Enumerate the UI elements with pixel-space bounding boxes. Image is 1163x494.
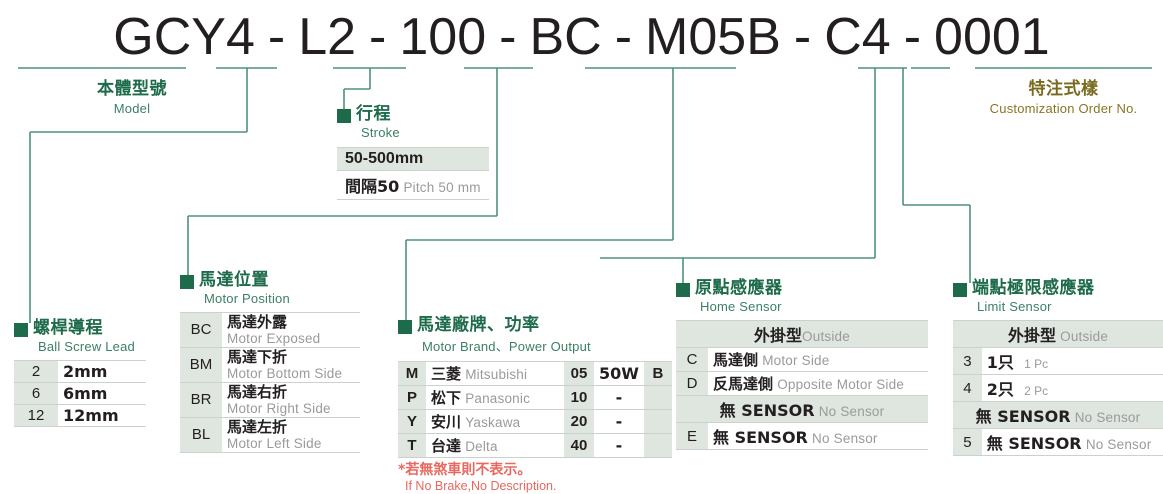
table-row: 5 無 SENSOR No Sensor xyxy=(953,429,1163,456)
model-separator: - xyxy=(356,11,399,63)
group-motor-position: 馬達位置 Motor Position BC 馬達外露 Motor Expose… xyxy=(180,272,360,453)
model-segment-lead: L2 xyxy=(298,11,356,63)
group-customization-title-en: Customization Order No. xyxy=(975,101,1152,116)
power-value: - xyxy=(594,386,644,410)
home-sensor-value: 反馬達側 Opposite Motor Side xyxy=(708,372,928,396)
power-value: - xyxy=(594,410,644,434)
group-motor-brand-power: 馬達廠牌、功率 Motor Brand、Power Output M 三菱 Mi… xyxy=(398,317,672,494)
group-home-sensor-title-en: Home Sensor xyxy=(700,299,928,314)
table-row: M 三菱 Mitsubishi 05 50W B xyxy=(398,362,672,386)
table-row: 外掛型Outside xyxy=(676,321,928,348)
table-row: 4 2只 2 Pc xyxy=(953,375,1163,402)
limit-sensor-value: 2只 2 Pc xyxy=(982,375,1163,402)
brand-name: 松下 Panasonic xyxy=(426,386,564,410)
table-row: C 馬達側 Motor Side xyxy=(676,348,928,372)
lead-code: 12 xyxy=(14,405,58,427)
power-value: - xyxy=(594,434,644,458)
model-number-row: GCY4 - L2 - 100 - BC - M05B - C4 - 0001 xyxy=(0,6,1163,68)
table-row: BR 馬達右折 Motor Right Side xyxy=(180,382,360,417)
lead-value: 2mm xyxy=(58,361,146,383)
group-limit-sensor-heading: 端點極限感應器 xyxy=(953,280,1163,297)
limit-sensor-code: 4 xyxy=(953,375,982,402)
group-stroke-title-zh: 行程 xyxy=(356,106,391,123)
table-row: T 台達 Delta 40 - xyxy=(398,434,672,458)
table-row: BL 馬達左折 Motor Left Side xyxy=(180,417,360,452)
limit-sensor-section-header: 無 SENSOR No Sensor xyxy=(953,402,1163,429)
brand-name: 安川 Yaskawa xyxy=(426,410,564,434)
stroke-pitch: 間隔50 Pitch 50 mm xyxy=(337,171,489,200)
table-row: E 無 SENSOR No Sensor xyxy=(676,423,928,450)
stroke-pitch-zh: 間隔50 xyxy=(345,177,399,196)
brand-code: T xyxy=(398,434,426,458)
table-row: 無 SENSOR No Sensor xyxy=(953,402,1163,429)
group-limit-sensor: 端點極限感應器 Limit Sensor 外掛型 Outside 3 1只 1 … xyxy=(953,280,1163,456)
limit-sensor-value: 無 SENSOR No Sensor xyxy=(982,429,1163,456)
group-ball-screw-lead: 螺桿導程 Ball Screw Lead 2 2mm 6 6mm 12 12mm xyxy=(14,320,146,427)
limit-sensor-code: 5 xyxy=(953,429,982,456)
brake-note-zh: *若無煞車則不表示。 xyxy=(398,462,672,479)
group-model-title-en: Model xyxy=(52,101,212,116)
model-separator: - xyxy=(602,11,645,63)
motor-position-code: BR xyxy=(180,382,222,417)
model-separator: - xyxy=(781,11,824,63)
motor-position-value: 馬達下折 Motor Bottom Side xyxy=(222,347,360,382)
motor-position-value: 馬達左折 Motor Left Side xyxy=(222,417,360,452)
power-code: 10 xyxy=(564,386,594,410)
group-customization-title-zh: 特注式樣 xyxy=(975,74,1152,99)
motor-position-code: BC xyxy=(180,313,222,348)
table-row: 2 2mm xyxy=(14,361,146,383)
lead-value: 12mm xyxy=(58,405,146,427)
table-row: P 松下 Panasonic 10 - xyxy=(398,386,672,410)
brand-code: M xyxy=(398,362,426,386)
ball-screw-lead-table: 2 2mm 6 6mm 12 12mm xyxy=(14,360,146,427)
table-row: Y 安川 Yaskawa 20 - xyxy=(398,410,672,434)
brake-code: B xyxy=(644,362,672,386)
group-motor-position-heading: 馬達位置 xyxy=(180,272,360,289)
home-sensor-table: 外掛型Outside C 馬達側 Motor Side D 反馬達側 Oppos… xyxy=(676,320,928,450)
stroke-range: 50-500mm xyxy=(337,148,489,171)
group-stroke: 行程 Stroke 50-500mm 間隔50 Pitch 50 mm xyxy=(337,106,489,200)
motor-position-code: BM xyxy=(180,347,222,382)
table-row: 無 SENSOR No Sensor xyxy=(676,396,928,423)
brand-code: P xyxy=(398,386,426,410)
stroke-table: 50-500mm 間隔50 Pitch 50 mm xyxy=(337,147,489,200)
group-ball-screw-lead-title-zh: 螺桿導程 xyxy=(33,320,103,337)
group-limit-sensor-title-zh: 端點極限感應器 xyxy=(972,280,1095,297)
table-row: BC 馬達外露 Motor Exposed xyxy=(180,313,360,348)
table-row: D 反馬達側 Opposite Motor Side xyxy=(676,372,928,396)
motor-brand-table: M 三菱 Mitsubishi 05 50W B P 松下 Panasonic … xyxy=(398,361,672,458)
group-model: 本體型號 Model xyxy=(52,74,212,116)
stroke-pitch-en: Pitch 50 mm xyxy=(403,180,480,195)
group-ball-screw-lead-title-en: Ball Screw Lead xyxy=(38,339,146,354)
group-motor-brand-heading: 馬達廠牌、功率 xyxy=(398,317,672,334)
table-row: 6 6mm xyxy=(14,383,146,405)
model-separator: - xyxy=(891,11,934,63)
limit-sensor-code: 3 xyxy=(953,348,982,375)
lead-code: 6 xyxy=(14,383,58,405)
group-motor-brand-title-en: Motor Brand、Power Output xyxy=(422,336,672,355)
power-value: 50W xyxy=(594,362,644,386)
model-segment-sensor: C4 xyxy=(824,11,890,63)
square-marker-icon xyxy=(337,109,351,123)
home-sensor-section-header: 無 SENSOR No Sensor xyxy=(676,396,928,423)
brand-name: 台達 Delta xyxy=(426,434,564,458)
motor-position-value: 馬達右折 Motor Right Side xyxy=(222,382,360,417)
square-marker-icon xyxy=(180,275,194,289)
home-sensor-section-header: 外掛型Outside xyxy=(676,321,928,348)
brake-code xyxy=(644,410,672,434)
lead-code: 2 xyxy=(14,361,58,383)
brake-code xyxy=(644,434,672,458)
square-marker-icon xyxy=(953,283,967,297)
group-ball-screw-lead-heading: 螺桿導程 xyxy=(14,320,146,337)
power-code: 05 xyxy=(564,362,594,386)
group-home-sensor: 原點感應器 Home Sensor 外掛型Outside C 馬達側 Motor… xyxy=(676,280,928,450)
square-marker-icon xyxy=(676,283,690,297)
group-motor-position-title-en: Motor Position xyxy=(204,291,360,306)
group-home-sensor-title-zh: 原點感應器 xyxy=(695,280,783,297)
brake-note: *若無煞車則不表示。 If No Brake,No Description. xyxy=(398,462,672,494)
group-motor-brand-title-zh: 馬達廠牌、功率 xyxy=(417,317,540,334)
group-home-sensor-heading: 原點感應器 xyxy=(676,280,928,297)
limit-sensor-table: 外掛型 Outside 3 1只 1 Pc 4 2只 2 Pc xyxy=(953,320,1163,456)
model-separator: - xyxy=(486,11,529,63)
table-row: 3 1只 1 Pc xyxy=(953,348,1163,375)
brake-note-en: If No Brake,No Description. xyxy=(405,479,672,494)
home-sensor-code: C xyxy=(676,348,708,372)
home-sensor-code: E xyxy=(676,423,708,450)
model-segment-stroke: 100 xyxy=(399,11,486,63)
brand-code: Y xyxy=(398,410,426,434)
power-code: 40 xyxy=(564,434,594,458)
table-row: BM 馬達下折 Motor Bottom Side xyxy=(180,347,360,382)
group-stroke-title-en: Stroke xyxy=(361,125,489,140)
square-marker-icon xyxy=(398,320,412,334)
limit-sensor-section-header: 外掛型 Outside xyxy=(953,321,1163,348)
diagram-canvas: GCY4 - L2 - 100 - BC - M05B - C4 - 0001 xyxy=(0,0,1163,489)
table-row: 外掛型 Outside xyxy=(953,321,1163,348)
table-row: 12 12mm xyxy=(14,405,146,427)
motor-position-table: BC 馬達外露 Motor Exposed BM 馬達下折 Motor Bott… xyxy=(180,312,360,453)
model-segment-body: GCY4 xyxy=(113,11,255,63)
brand-name: 三菱 Mitsubishi xyxy=(426,362,564,386)
group-customization: 特注式樣 Customization Order No. xyxy=(975,74,1152,116)
model-separator: - xyxy=(255,11,298,63)
group-motor-position-title-zh: 馬達位置 xyxy=(199,272,269,289)
group-stroke-heading: 行程 xyxy=(337,106,489,123)
model-segment-motorpos: BC xyxy=(529,11,601,63)
home-sensor-code: D xyxy=(676,372,708,396)
power-code: 20 xyxy=(564,410,594,434)
table-row: 間隔50 Pitch 50 mm xyxy=(337,171,489,200)
home-sensor-value: 馬達側 Motor Side xyxy=(708,348,928,372)
group-model-title-zh: 本體型號 xyxy=(52,74,212,99)
square-marker-icon xyxy=(14,323,28,337)
motor-position-value: 馬達外露 Motor Exposed xyxy=(222,313,360,348)
group-limit-sensor-title-en: Limit Sensor xyxy=(977,299,1163,314)
limit-sensor-value: 1只 1 Pc xyxy=(982,348,1163,375)
model-segment-custom: 0001 xyxy=(934,11,1050,63)
lead-value: 6mm xyxy=(58,383,146,405)
motor-position-code: BL xyxy=(180,417,222,452)
table-row: 50-500mm xyxy=(337,148,489,171)
home-sensor-value: 無 SENSOR No Sensor xyxy=(708,423,928,450)
model-segment-motor: M05B xyxy=(645,11,781,63)
brake-code xyxy=(644,386,672,410)
